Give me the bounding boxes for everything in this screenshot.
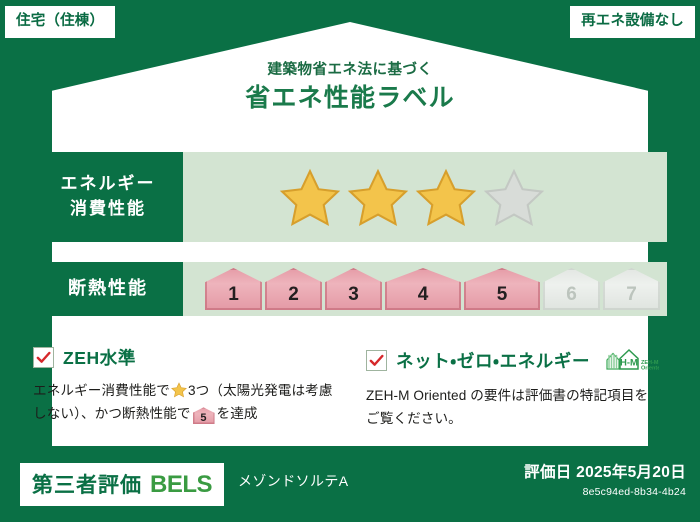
insulation-performance-key-label: 断熱性能 bbox=[33, 262, 183, 316]
star-icon-empty bbox=[483, 167, 545, 227]
star-icon-filled bbox=[347, 167, 409, 227]
insulation-grade-chip-5: 5 bbox=[464, 268, 540, 310]
note-net-zero-title: ネット・ゼロ・エネルギー bbox=[396, 348, 590, 373]
insulation-grade-chip-6: 6 bbox=[543, 268, 600, 310]
insulation-performance-row: 断熱性能 1234567 bbox=[33, 262, 667, 316]
star-icon-filled bbox=[415, 167, 477, 227]
insulation-grade-chip-4: 4 bbox=[385, 268, 461, 310]
note-zeh-body-part-3: を達成 bbox=[217, 406, 258, 421]
note-zeh-standard-title: ZEH水準 bbox=[63, 345, 136, 370]
check-icon bbox=[33, 347, 54, 368]
footer-bar: 第三者評価 BELS メゾンドソルテA 評価日 2025年5月20日 8e5c9… bbox=[0, 446, 700, 522]
note-net-zero-body: ZEH-M Oriented の要件は評価書の特記項目をご覧ください。 bbox=[366, 384, 651, 431]
energy-performance-label: 住宅（住棟） 再エネ設備なし 建築物省エネ法に基づく 省エネ性能ラベル エネルギ… bbox=[0, 0, 700, 522]
bels-third-party-plate: 第三者評価 BELS bbox=[20, 463, 224, 506]
zeh-m-oriented-logo-icon: H-M ZEH-M Oriented bbox=[603, 345, 659, 375]
energy-performance-row: エネルギー 消費性能 bbox=[33, 152, 667, 242]
energy-key-line-2: 消費性能 bbox=[70, 197, 146, 222]
note-net-zero-heading: ネット・ゼロ・エネルギー H-M ZEH-M Oriented bbox=[366, 345, 651, 375]
check-icon bbox=[366, 350, 387, 371]
note-zeh-standard-body: エネルギー消費性能で 3つ（太陽光発電は考慮しない）、かつ断熱性能で5を達成 bbox=[33, 379, 334, 426]
svg-text:H-M: H-M bbox=[620, 358, 638, 369]
notes-section: ZEH水準 エネルギー消費性能で 3つ（太陽光発電は考慮しない）、かつ断熱性能で… bbox=[33, 345, 667, 431]
house-chip-icon: 5 bbox=[193, 407, 215, 424]
note-zeh-standard-heading: ZEH水準 bbox=[33, 345, 334, 370]
energy-performance-key-label: エネルギー 消費性能 bbox=[33, 152, 183, 242]
title-main: 省エネ性能ラベル bbox=[0, 83, 700, 114]
insulation-grade-scale: 1234567 bbox=[183, 268, 660, 310]
building-name: メゾンドソルテA bbox=[238, 471, 349, 491]
note-zeh-body-part-1: エネルギー消費性能で bbox=[33, 383, 170, 398]
evaluation-date: 評価日 2025年5月20日 bbox=[524, 460, 686, 482]
label-title: 建築物省エネ法に基づく 省エネ性能ラベル bbox=[0, 62, 700, 115]
svg-text:Oriented: Oriented bbox=[641, 366, 659, 372]
insulation-grade-chip-3: 3 bbox=[325, 268, 382, 310]
insulation-performance-value-strip: 1234567 bbox=[183, 262, 667, 316]
star-icon-filled bbox=[279, 167, 341, 227]
star-rating bbox=[183, 167, 545, 227]
badge-renewable-equipment: 再エネ設備なし bbox=[570, 6, 695, 38]
insulation-grade-chip-1: 1 bbox=[205, 268, 262, 310]
insulation-grade-chip-7: 7 bbox=[603, 268, 660, 310]
badge-building-type: 住宅（住棟） bbox=[5, 6, 115, 38]
energy-key-line-1: エネルギー bbox=[61, 172, 156, 197]
star-icon bbox=[171, 382, 187, 398]
bels-jp-label: 第三者評価 bbox=[32, 469, 142, 499]
title-subtitle: 建築物省エネ法に基づく bbox=[0, 62, 700, 79]
energy-performance-value-strip bbox=[183, 152, 667, 242]
insulation-grade-chip-2: 2 bbox=[265, 268, 322, 310]
note-net-zero-energy: ネット・ゼロ・エネルギー H-M ZEH-M Oriented ZEH-M bbox=[350, 345, 667, 431]
evaluation-info: 評価日 2025年5月20日 8e5c94ed-8b34-4b24 bbox=[524, 460, 686, 498]
note-zeh-standard: ZEH水準 エネルギー消費性能で 3つ（太陽光発電は考慮しない）、かつ断熱性能で… bbox=[33, 345, 350, 431]
bels-en-label: BELS bbox=[150, 471, 212, 499]
evaluation-id: 8e5c94ed-8b34-4b24 bbox=[524, 486, 686, 498]
